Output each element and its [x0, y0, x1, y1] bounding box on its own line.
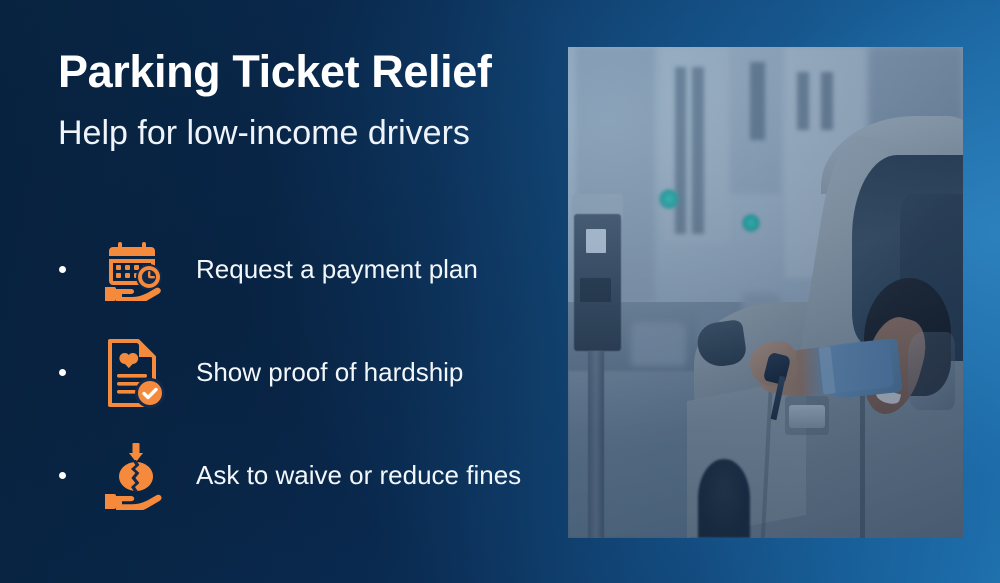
benefits-list: Request a payment plan [52, 218, 562, 527]
hero-photo [568, 47, 963, 538]
document-heart-check-icon [100, 334, 172, 412]
list-item: Show proof of hardship [52, 321, 562, 424]
headline-block: Parking Ticket Relief Help for low-incom… [58, 48, 558, 153]
list-item-label: Show proof of hardship [196, 357, 463, 388]
list-item: Request a payment plan [52, 218, 562, 321]
photo-color-grade-highlight [568, 47, 963, 538]
page-subtitle: Help for low-income drivers [58, 114, 558, 153]
page-title: Parking Ticket Relief [58, 48, 558, 95]
list-item-label: Ask to waive or reduce fines [196, 460, 521, 491]
bullet-dot [59, 266, 66, 273]
slide-canvas: Parking Ticket Relief Help for low-incom… [0, 0, 1000, 583]
bullet-dot [59, 369, 66, 376]
list-item-label: Request a payment plan [196, 254, 478, 285]
list-item: Ask to waive or reduce fines [52, 424, 562, 527]
hand-holding-broken-coin-down-arrow-icon [100, 437, 172, 515]
hand-holding-calendar-clock-icon [100, 231, 172, 309]
bullet-dot [59, 472, 66, 479]
